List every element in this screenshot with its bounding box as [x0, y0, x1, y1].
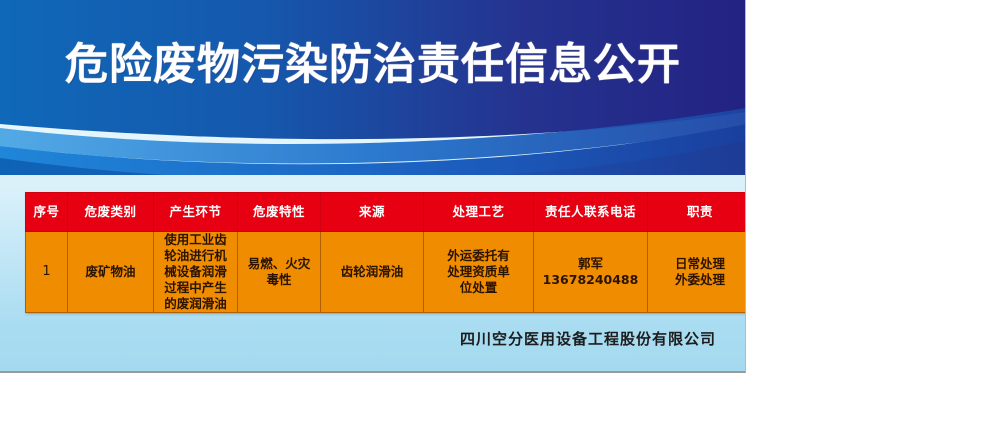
table-header-row: 序号 危废类别 产生环节 危废特性 来源 处理工艺 责任人联系电话 职责: [26, 193, 747, 232]
cell-treatment-lines: 外运委托有处理资质单位处置: [426, 248, 531, 296]
table-row: 1 废矿物油 使用工业齿轮油进行机械设备润滑过程中产生的废润滑油 易燃、火灾毒性…: [26, 232, 747, 313]
information-disclosure-poster: 危险废物污染防治责任信息公开 序号 危废类别 产生环节 危废特性 来源 处理工艺…: [0, 0, 746, 373]
hazardous-waste-table: 序号 危废类别 产生环节 危废特性 来源 处理工艺 责任人联系电话 职责 1 废…: [25, 192, 746, 313]
table-header: 序号 危废类别 产生环节 危废特性 来源 处理工艺 责任人联系电话 职责: [26, 193, 747, 232]
company-name: 四川空分医用设备工程股份有限公司: [0, 328, 716, 349]
table-body: 1 废矿物油 使用工业齿轮油进行机械设备润滑过程中产生的废润滑油 易燃、火灾毒性…: [26, 232, 747, 313]
cell-characteristics-lines: 易燃、火灾毒性: [240, 256, 318, 288]
cell-duty: 日常处理外委处理: [648, 232, 747, 313]
cell-characteristics: 易燃、火灾毒性: [238, 232, 321, 313]
column-header-treatment: 处理工艺: [424, 193, 534, 232]
cell-source: 齿轮润滑油: [321, 232, 424, 313]
banner-wave-graphic: [0, 0, 746, 175]
column-header-stage: 产生环节: [154, 193, 238, 232]
column-header-index: 序号: [26, 193, 68, 232]
column-header-category: 危废类别: [68, 193, 154, 232]
cell-contact-lines: 郭军13678240488: [536, 256, 645, 288]
cell-generation-stage-lines: 使用工业齿轮油进行机械设备润滑过程中产生的废润滑油: [156, 232, 235, 312]
cell-duty-lines: 日常处理外委处理: [650, 256, 746, 288]
cell-contact: 郭军13678240488: [534, 232, 648, 313]
column-header-duty: 职责: [648, 193, 747, 232]
column-header-source: 来源: [321, 193, 424, 232]
column-header-characteristics: 危废特性: [238, 193, 321, 232]
cell-category: 废矿物油: [68, 232, 154, 313]
cell-treatment: 外运委托有处理资质单位处置: [424, 232, 534, 313]
poster-banner: 危险废物污染防治责任信息公开: [0, 0, 746, 175]
column-header-contact: 责任人联系电话: [534, 193, 648, 232]
cell-index: 1: [26, 232, 68, 313]
cell-generation-stage: 使用工业齿轮油进行机械设备润滑过程中产生的废润滑油: [154, 232, 238, 313]
